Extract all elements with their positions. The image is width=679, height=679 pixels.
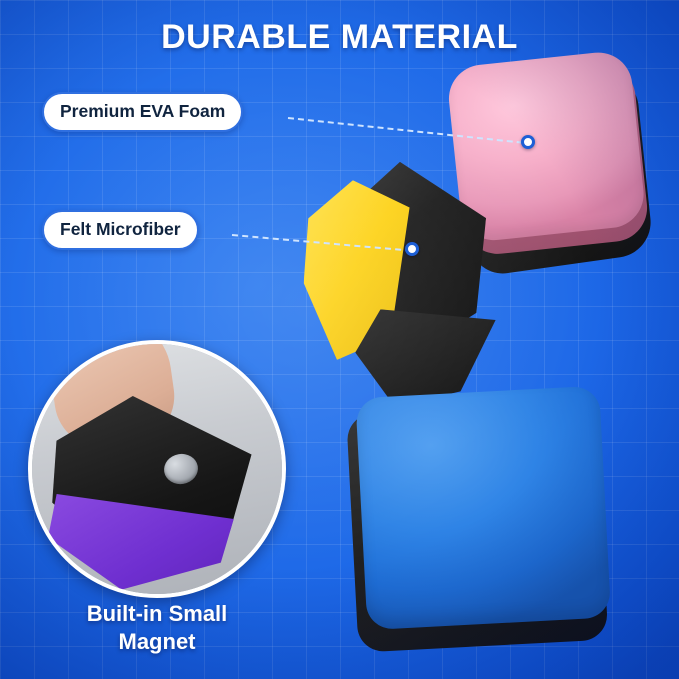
callout-label-felt: Felt Microfiber xyxy=(60,219,181,239)
blue-eraser xyxy=(345,385,616,658)
callout-premium-eva-foam[interactable]: Premium EVA Foam xyxy=(42,92,243,132)
blue-eraser-foam-top xyxy=(355,386,611,630)
callout-dot-eva xyxy=(521,135,535,149)
callout-dot-felt xyxy=(405,242,419,256)
magnet-caption-line1: Built-in Small xyxy=(18,600,296,628)
callout-felt-microfiber[interactable]: Felt Microfiber xyxy=(42,210,199,250)
yellow-eraser xyxy=(296,157,504,394)
page-title: DURABLE MATERIAL xyxy=(0,18,679,57)
magnet-caption: Built-in Small Magnet xyxy=(18,600,296,656)
product-infographic: DURABLE MATERIAL Premium EVA Foam Felt M… xyxy=(0,0,679,679)
magnet-caption-line2: Magnet xyxy=(18,628,296,656)
callout-label-eva: Premium EVA Foam xyxy=(60,101,225,121)
magnet-detail-inset xyxy=(28,340,286,598)
